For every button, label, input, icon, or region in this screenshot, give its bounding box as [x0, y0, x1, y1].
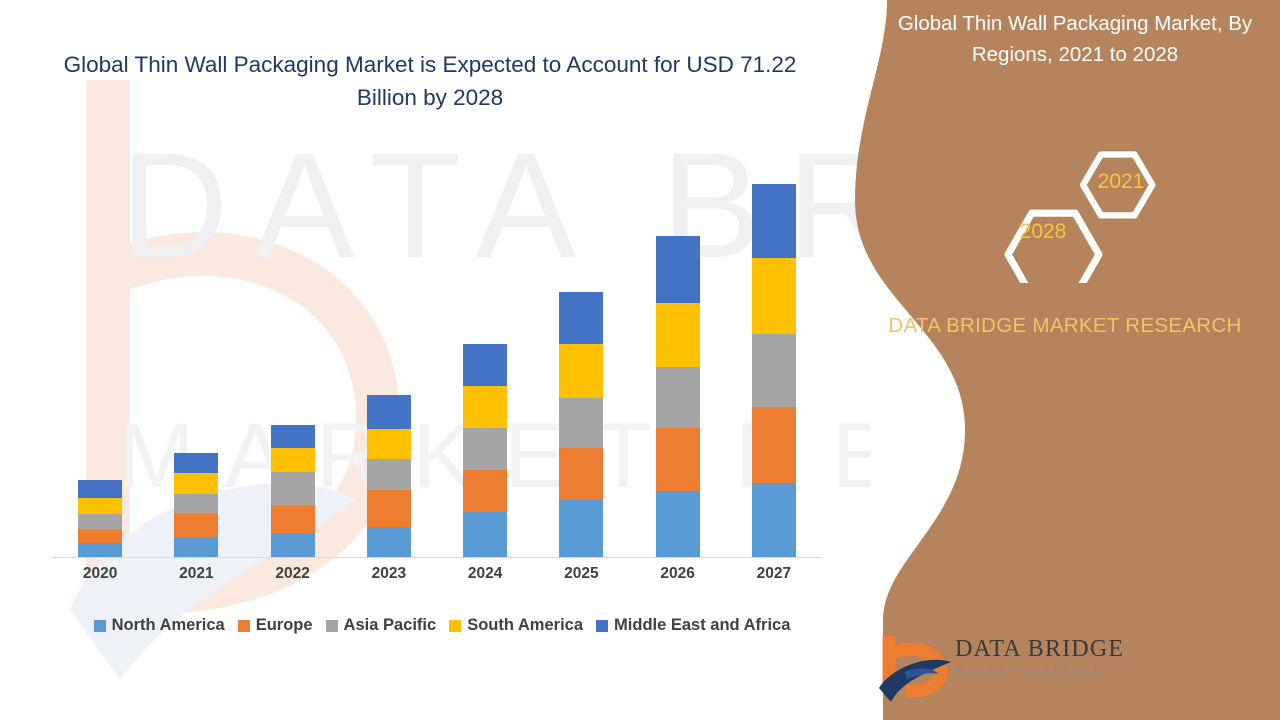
segment-europe-2020 [78, 529, 122, 543]
hex-label-2028: 2028 [1003, 220, 1083, 244]
segment-europe-2025 [559, 448, 603, 500]
segment-north-america-2023 [367, 527, 411, 557]
segment-middle-east-and-africa-2025 [559, 292, 603, 344]
segment-europe-2026 [656, 428, 700, 491]
bar-2024 [463, 344, 507, 557]
legend-label: South America [467, 616, 583, 635]
x-tick-2025: 2025 [536, 565, 626, 583]
segment-south-america-2022 [271, 448, 315, 472]
segment-middle-east-and-africa-2026 [656, 236, 700, 303]
bar-2023 [367, 395, 411, 557]
legend-swatch-icon [326, 620, 338, 632]
segment-asia-pacific-2020 [78, 514, 122, 529]
panel-background-shape [845, 0, 1280, 720]
segment-asia-pacific-2027 [752, 334, 796, 407]
segment-south-america-2025 [559, 344, 603, 398]
segment-europe-2022 [271, 505, 315, 533]
segment-south-america-2027 [752, 258, 796, 334]
x-axis-line [52, 557, 822, 558]
x-tick-2022: 2022 [248, 565, 338, 583]
segment-south-america-2024 [463, 386, 507, 428]
segment-middle-east-and-africa-2023 [367, 395, 411, 428]
segment-middle-east-and-africa-2021 [174, 453, 218, 473]
panel-title: Global Thin Wall Packaging Market, By Re… [875, 8, 1275, 70]
data-bridge-mark-icon [875, 628, 955, 706]
x-tick-2021: 2021 [151, 565, 241, 583]
legend-swatch-icon [449, 620, 461, 632]
segment-south-america-2021 [174, 473, 218, 494]
segment-middle-east-and-africa-2020 [78, 480, 122, 498]
segment-north-america-2024 [463, 512, 507, 557]
logo-tagline: MARKET RESEARCH [955, 664, 1140, 676]
legend-item-middle-east-and-africa[interactable]: Middle East and Africa [596, 616, 790, 635]
segment-north-america-2021 [174, 537, 218, 557]
right-brand-panel: Global Thin Wall Packaging Market, By Re… [845, 0, 1280, 720]
segment-south-america-2020 [78, 498, 122, 514]
x-tick-2020: 2020 [55, 565, 145, 583]
segment-europe-2023 [367, 490, 411, 527]
segment-europe-2021 [174, 513, 218, 537]
bar-2022 [271, 425, 315, 557]
hex-label-2021: 2021 [1081, 170, 1161, 194]
hexagon-outline-icon [985, 138, 1175, 283]
logo-wordmark: DATA BRIDGE [955, 636, 1140, 662]
bar-2027 [752, 184, 796, 557]
segment-asia-pacific-2026 [656, 367, 700, 428]
segment-asia-pacific-2023 [367, 459, 411, 490]
legend-label: Middle East and Africa [614, 616, 790, 635]
stacked-bar-chart [52, 150, 822, 558]
legend-item-south-america[interactable]: South America [449, 616, 583, 635]
legend-item-europe[interactable]: Europe [238, 616, 313, 635]
page-title: Global Thin Wall Packaging Market is Exp… [60, 48, 800, 114]
x-tick-2023: 2023 [344, 565, 434, 583]
logo-divider [955, 661, 1138, 662]
bar-2020 [78, 480, 122, 557]
segment-asia-pacific-2024 [463, 428, 507, 470]
segment-middle-east-and-africa-2022 [271, 425, 315, 448]
segment-north-america-2026 [656, 491, 700, 557]
segment-asia-pacific-2025 [559, 398, 603, 448]
segment-north-america-2020 [78, 543, 122, 557]
segment-north-america-2027 [752, 483, 796, 557]
legend-swatch-icon [94, 620, 106, 632]
x-tick-2027: 2027 [729, 565, 819, 583]
segment-middle-east-and-africa-2024 [463, 344, 507, 386]
slide-canvas: DATA BRIDGE MARKET RESEARCH Global Thin … [0, 0, 1280, 720]
segment-europe-2027 [752, 407, 796, 483]
x-tick-2024: 2024 [440, 565, 530, 583]
bar-2021 [174, 453, 218, 557]
hexagon-badges: 2028 2021 [985, 138, 1175, 283]
company-logo: DATA BRIDGE MARKET RESEARCH [875, 628, 1140, 706]
segment-europe-2024 [463, 470, 507, 512]
x-tick-2026: 2026 [633, 565, 723, 583]
segment-north-america-2022 [271, 533, 315, 557]
bar-2026 [656, 236, 700, 557]
segment-south-america-2026 [656, 303, 700, 367]
legend-item-north-america[interactable]: North America [94, 616, 225, 635]
segment-asia-pacific-2022 [271, 472, 315, 505]
segment-middle-east-and-africa-2027 [752, 184, 796, 258]
legend-swatch-icon [596, 620, 608, 632]
legend-label: Europe [256, 616, 313, 635]
bar-2025 [559, 292, 603, 557]
segment-south-america-2023 [367, 429, 411, 459]
legend-item-asia-pacific[interactable]: Asia Pacific [326, 616, 437, 635]
legend-swatch-icon [238, 620, 250, 632]
segment-north-america-2025 [559, 500, 603, 557]
segment-asia-pacific-2021 [174, 494, 218, 513]
legend-label: Asia Pacific [344, 616, 437, 635]
legend-label: North America [112, 616, 225, 635]
chart-legend: North AmericaEuropeAsia PacificSouth Ame… [52, 616, 832, 635]
brand-name-text: DATA BRIDGE MARKET RESEARCH [865, 310, 1265, 341]
